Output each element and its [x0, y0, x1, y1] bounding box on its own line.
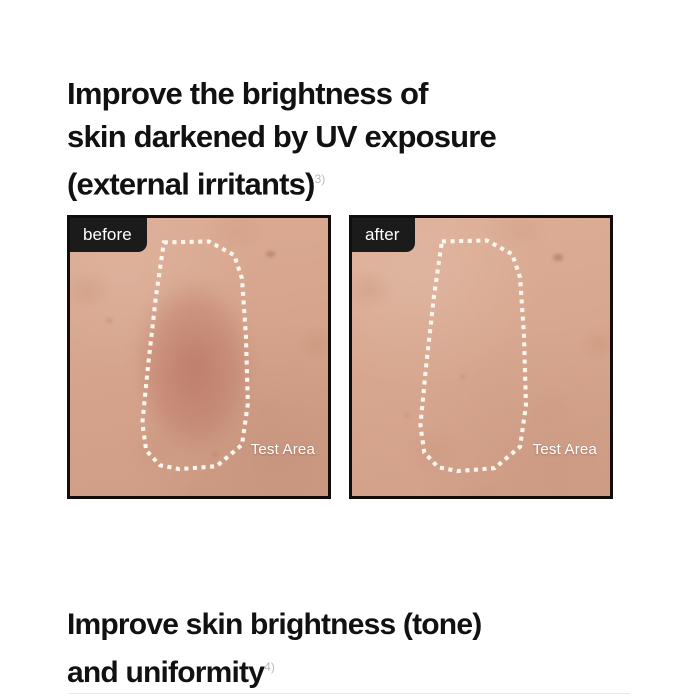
before-after-comparison: before Test Area after Test Area [67, 215, 613, 499]
heading-bottom-line-1: Improve skin brightness (tone) [67, 603, 637, 646]
badge-before: before [70, 218, 147, 252]
page-title-bottom: Improve skin brightness (tone) and unifo… [67, 603, 637, 694]
section-divider [68, 693, 630, 694]
heading-top-line-3-text: (external irritants) [67, 166, 315, 201]
heading-top-line-3: (external irritants)3) [67, 158, 627, 205]
heading-top-line-2: skin darkened by UV exposure [67, 115, 627, 158]
panel-before: before Test Area [67, 215, 331, 499]
page-root: Improve the brightness of skin darkened … [0, 0, 700, 700]
heading-bottom-line-2-text: and uniformity [67, 656, 264, 689]
footnote-marker-3: 3) [315, 172, 326, 186]
panel-after: after Test Area [349, 215, 613, 499]
test-area-label-before: Test Area [251, 441, 315, 458]
heading-bottom-line-2: and uniformity4) [67, 646, 637, 694]
test-area-label-after: Test Area [533, 441, 597, 458]
footnote-marker-4: 4) [264, 660, 275, 674]
heading-top-line-1: Improve the brightness of [67, 72, 627, 115]
badge-after: after [352, 218, 415, 252]
page-title-top: Improve the brightness of skin darkened … [67, 72, 627, 205]
